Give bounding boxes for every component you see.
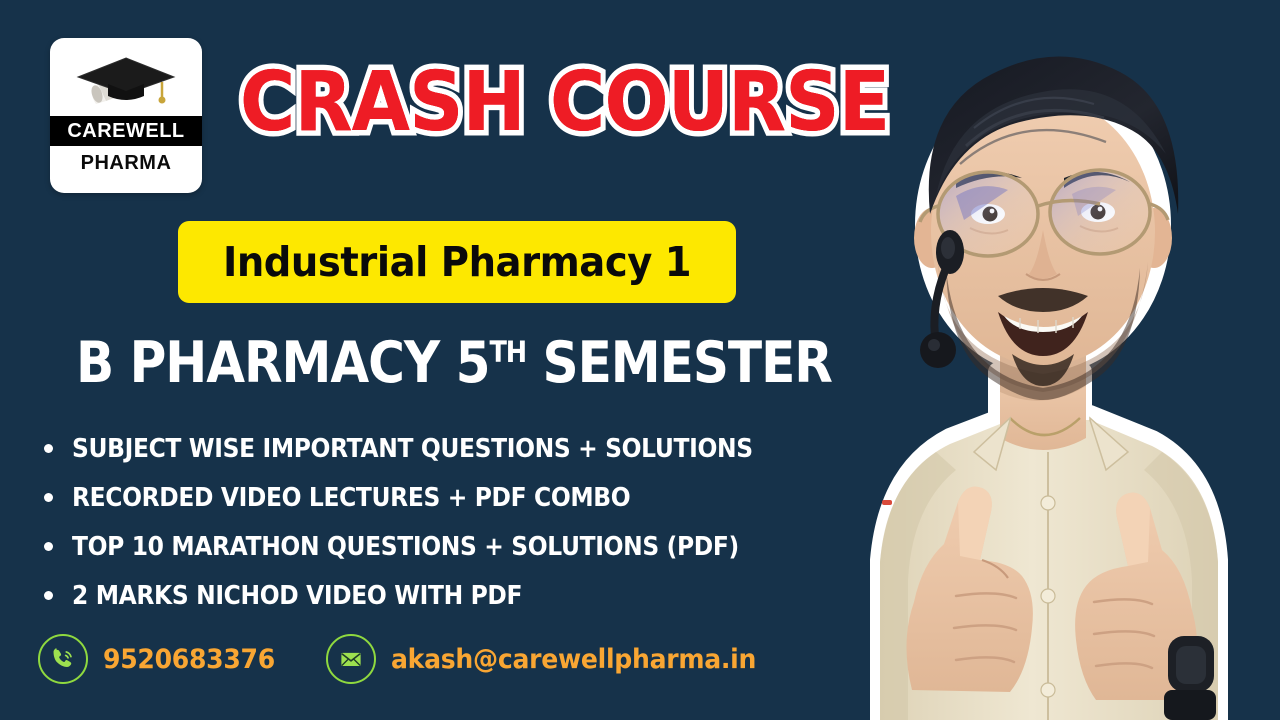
feature-label: RECORDED VIDEO LECTURES + PDF COMBO <box>72 483 630 513</box>
contact-row: 9520683376 akash@carewellpharma.in <box>38 634 783 684</box>
brand-name-secondary-text: PHARMA <box>81 152 172 175</box>
feature-label: 2 MARKS NICHOD VIDEO WITH PDF <box>72 581 522 611</box>
list-item: SUBJECT WISE IMPORTANT QUESTIONS + SOLUT… <box>44 424 828 473</box>
bullet-icon <box>44 542 53 551</box>
brand-name-primary-text: CAREWELL <box>67 120 184 143</box>
contact-phone[interactable]: 9520683376 <box>38 634 288 684</box>
feature-label: SUBJECT WISE IMPORTANT QUESTIONS + SOLUT… <box>72 434 753 464</box>
course-title: B PHARMACY 5TH SEMESTER <box>76 330 832 396</box>
bullet-icon <box>44 591 53 600</box>
email-icon[interactable] <box>326 634 376 684</box>
promo-poster: CAREWELL PHARMA CRASH COURSE CRASH COURS… <box>0 0 1280 720</box>
subject-badge: Industrial Pharmacy 1 <box>178 221 736 303</box>
brand-logo: CAREWELL PHARMA <box>50 38 202 193</box>
list-item: 2 MARKS NICHOD VIDEO WITH PDF <box>44 571 828 620</box>
brand-name-secondary: PHARMA <box>50 148 202 178</box>
course-title-ordinal: TH <box>489 335 526 369</box>
bullet-icon <box>44 493 53 502</box>
brand-name-primary: CAREWELL <box>50 116 202 146</box>
course-title-prefix: B PHARMACY 5 <box>76 330 489 396</box>
phone-number[interactable]: 9520683376 <box>103 644 275 675</box>
list-item: RECORDED VIDEO LECTURES + PDF COMBO <box>44 473 828 522</box>
phone-icon[interactable] <box>38 634 88 684</box>
feature-label: TOP 10 MARATHON QUESTIONS + SOLUTIONS (P… <box>72 532 739 562</box>
feature-list: SUBJECT WISE IMPORTANT QUESTIONS + SOLUT… <box>44 424 828 620</box>
contact-email[interactable]: akash@carewellpharma.in <box>326 634 784 684</box>
subject-badge-label: Industrial Pharmacy 1 <box>223 238 691 286</box>
email-address[interactable]: akash@carewellpharma.in <box>391 644 756 675</box>
graduation-cap-icon <box>50 44 202 116</box>
list-item: TOP 10 MARATHON QUESTIONS + SOLUTIONS (P… <box>44 522 828 571</box>
presenter-photo <box>760 0 1280 720</box>
bullet-icon <box>44 444 53 453</box>
